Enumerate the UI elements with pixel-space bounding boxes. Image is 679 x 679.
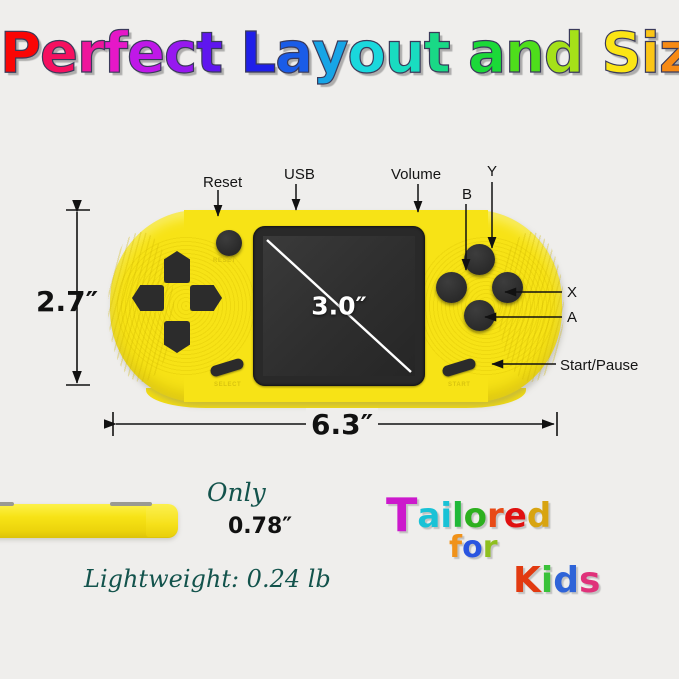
title-letter: t [196, 26, 222, 82]
thickness-prefix-label: Only [207, 478, 266, 507]
callout-volume: Volume [391, 166, 441, 183]
screen-size-label: 3.0″ [263, 292, 415, 321]
title-letter [583, 26, 602, 82]
tagline-letter: o [462, 530, 483, 565]
tagline-letter: s [579, 560, 600, 601]
title-letter: e [40, 26, 77, 82]
reset-button[interactable] [216, 230, 242, 256]
tagline-letter: i [541, 560, 553, 601]
tagline-letter: d [553, 560, 579, 601]
callout-usb: USB [284, 166, 315, 183]
title-letter: y [312, 26, 348, 82]
tagline-letter: a [417, 496, 440, 536]
title-letter: t [424, 26, 450, 82]
tagline-word-kids: Kids [513, 560, 600, 601]
poster-canvas: Perfect Layout and Size 3.0″ [0, 0, 679, 679]
tagline-letter: f [449, 530, 462, 565]
callout-x: X [567, 284, 577, 301]
title-letter: r [77, 26, 104, 82]
y-button[interactable] [464, 244, 495, 275]
start-silkscreen-label: START [448, 382, 471, 388]
tagline-letter: T [386, 488, 417, 542]
title-letter: o [348, 26, 385, 82]
a-button[interactable] [464, 300, 495, 331]
tagline-letter: K [513, 560, 541, 601]
console-screen: 3.0″ [263, 236, 415, 376]
title-letter: P [0, 26, 40, 82]
width-dimension-label: 6.3″ [306, 408, 378, 441]
callout-reset: Reset [203, 174, 242, 191]
title-letter [222, 26, 241, 82]
callout-start-pause: Start/Pause [560, 357, 638, 374]
title-letter: a [275, 26, 312, 82]
title-letter: d [544, 26, 583, 82]
title-letter: S [601, 26, 640, 82]
title-letter: e [127, 26, 164, 82]
thickness-value-label: 0.78″ [228, 514, 292, 539]
reset-silkscreen-label: RESET [213, 258, 236, 264]
usb-port-icon [110, 502, 152, 506]
callout-a: A [567, 309, 577, 326]
title-letter: n [505, 26, 544, 82]
title-letter: z [659, 26, 679, 82]
side-port-icon [0, 502, 14, 506]
tagline-word-for: for [449, 530, 497, 565]
title-letter: L [241, 26, 276, 82]
title-letter: a [468, 26, 505, 82]
tagline-letter: d [527, 496, 551, 536]
console-side-end-cap [146, 505, 178, 537]
title-letter [450, 26, 469, 82]
weight-label: Lightweight: 0.24 lb [84, 565, 331, 593]
tagline-letter: e [504, 496, 527, 536]
select-silkscreen-label: SELECT [214, 382, 241, 388]
title-letter: f [104, 26, 127, 82]
height-dimension-label: 2.7″ [36, 285, 98, 318]
b-button[interactable] [436, 272, 467, 303]
title-letter: u [385, 26, 424, 82]
handheld-console-front-view: 3.0″ RESET SELECT START [110, 210, 562, 402]
right-grip-texture [498, 232, 564, 382]
callout-b: B [462, 186, 472, 203]
tagline-letter: r [483, 530, 498, 565]
title-letter: i [641, 26, 659, 82]
title-letter: c [164, 26, 196, 82]
page-title: Perfect Layout and Size [0, 26, 679, 82]
screen-bezel: 3.0″ [253, 226, 425, 386]
callout-y: Y [487, 163, 497, 180]
x-button[interactable] [492, 272, 523, 303]
